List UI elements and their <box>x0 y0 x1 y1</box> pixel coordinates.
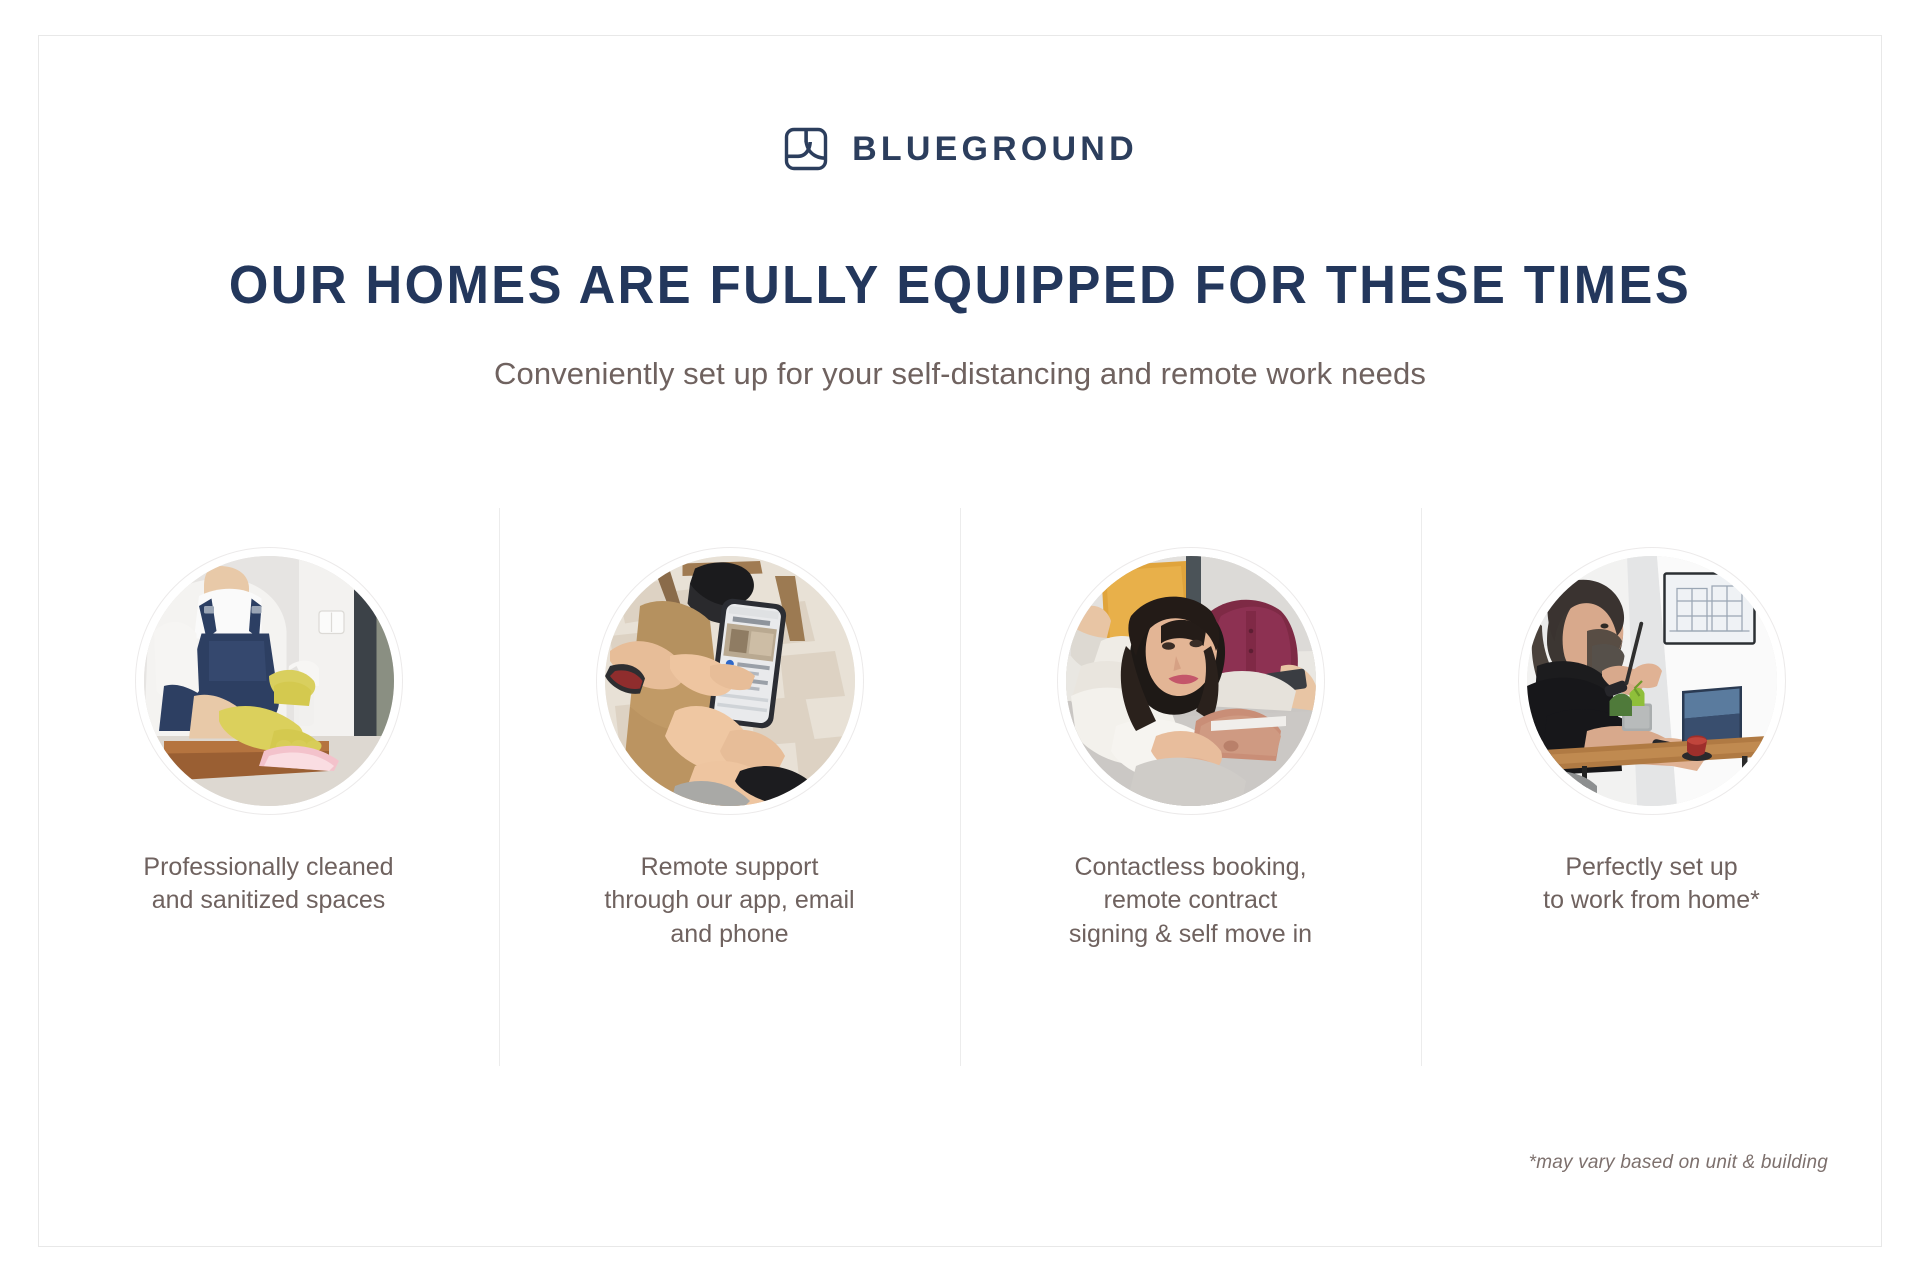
feature-photo-ring <box>596 547 864 815</box>
feature-photo-ring <box>1518 547 1786 815</box>
footnote-disclaimer: *may vary based on unit & building <box>1529 1152 1828 1174</box>
caption-line: and sanitized spaces <box>109 884 429 917</box>
feature-caption: Perfectly set up to work from home* <box>1492 851 1812 918</box>
blueground-square-logo-icon <box>782 125 830 173</box>
feature-caption: Remote support through our app, email an… <box>570 851 890 951</box>
brand-logo: BLUEGROUND <box>0 125 1920 173</box>
caption-line: Professionally cleaned <box>109 851 429 884</box>
feature-column-remote-support: Remote support through our app, email an… <box>499 508 960 1068</box>
feature-columns: Professionally cleaned and sanitized spa… <box>38 508 1882 1068</box>
photo-phone-app <box>605 556 855 806</box>
caption-line: Perfectly set up <box>1492 851 1812 884</box>
photo-tablet-bed <box>1066 556 1316 806</box>
feature-caption: Contactless booking, remote contract sig… <box>1031 851 1351 951</box>
caption-line: through our app, email <box>570 884 890 917</box>
feature-column-work-from-home: Perfectly set up to work from home* <box>1421 508 1882 1068</box>
photo-work-from-home <box>1527 556 1777 806</box>
page-title: OUR HOMES ARE FULLY EQUIPPED FOR THESE T… <box>58 258 1863 312</box>
brand-wordmark: BLUEGROUND <box>852 132 1138 166</box>
caption-line: Remote support <box>570 851 890 884</box>
caption-line: Contactless booking, <box>1031 851 1351 884</box>
poster-canvas: BLUEGROUND OUR HOMES ARE FULLY EQUIPPED … <box>0 0 1920 1280</box>
caption-line: signing & self move in <box>1031 918 1351 951</box>
feature-column-cleaning: Professionally cleaned and sanitized spa… <box>38 508 499 1068</box>
caption-line: and phone <box>570 918 890 951</box>
page-subtitle: Conveniently set up for your self-distan… <box>0 355 1920 392</box>
feature-photo-ring <box>1057 547 1325 815</box>
caption-line: remote contract <box>1031 884 1351 917</box>
photo-cleaning <box>144 556 394 806</box>
feature-photo-ring <box>135 547 403 815</box>
caption-line: to work from home* <box>1492 884 1812 917</box>
feature-caption: Professionally cleaned and sanitized spa… <box>109 851 429 918</box>
feature-column-contactless-booking: Contactless booking, remote contract sig… <box>960 508 1421 1068</box>
